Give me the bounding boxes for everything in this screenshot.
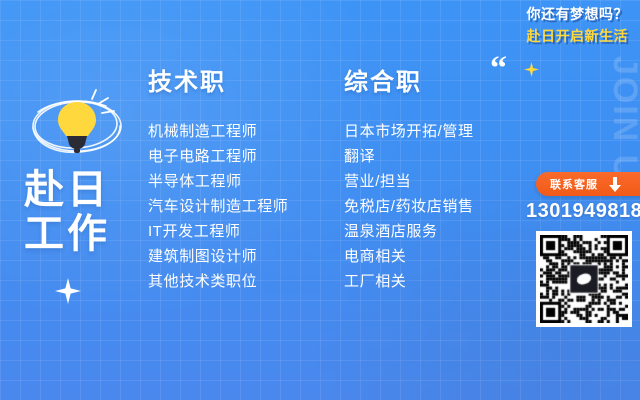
list-item[interactable]: 电子电路工程师 (148, 144, 288, 169)
page-title-line-2: 工作 (24, 212, 110, 256)
contact-support-label: 联系客服 (550, 176, 598, 192)
contact-support-button[interactable]: 联系客服 (536, 172, 640, 196)
list-item[interactable]: 电商相关 (344, 244, 474, 269)
headline-line-2: 赴日开启新生活 (527, 28, 629, 46)
column-general: 综合职 日本市场开拓/管理 翻译 营业/担当 免税店/药妆店销售 温泉酒店服务 … (344, 62, 474, 294)
column-title-general: 综合职 (344, 62, 474, 97)
column-technical: 技术职 机械制造工程师 电子电路工程师 半导体工程师 汽车设计制造工程师 IT开… (148, 62, 288, 294)
qr-code[interactable] (536, 231, 632, 327)
list-item[interactable]: 工厂相关 (344, 269, 474, 294)
quote-mark-icon: “ (490, 52, 507, 86)
list-item[interactable]: IT开发工程师 (148, 219, 288, 244)
list-item[interactable]: 其他技术类职位 (148, 269, 288, 294)
list-item[interactable]: 建筑制图设计师 (148, 244, 288, 269)
sparkle-star-icon (524, 62, 539, 77)
headline-line-1: 你还有梦想吗？ (527, 6, 629, 24)
job-list-general: 日本市场开拓/管理 翻译 营业/担当 免税店/药妆店销售 温泉酒店服务 电商相关… (344, 119, 474, 294)
list-item[interactable]: 半导体工程师 (148, 169, 288, 194)
poster-canvas: JOIN U 你还有梦想吗？ 赴日开启新生活 “ 赴日 (0, 0, 640, 400)
list-item[interactable]: 温泉酒店服务 (344, 219, 474, 244)
column-title-technical: 技术职 (148, 62, 288, 97)
lightbulb-icon (24, 86, 130, 164)
page-title: 赴日 工作 (24, 168, 110, 256)
job-list-technical: 机械制造工程师 电子电路工程师 半导体工程师 汽车设计制造工程师 IT开发工程师… (148, 119, 288, 294)
list-item[interactable]: 机械制造工程师 (148, 119, 288, 144)
phone-number[interactable]: 13019498186 (526, 200, 640, 223)
page-title-line-1: 赴日 (24, 168, 110, 212)
list-item[interactable]: 营业/担当 (344, 169, 474, 194)
headline-block: 你还有梦想吗？ 赴日开启新生活 (527, 6, 629, 45)
list-item[interactable]: 汽车设计制造工程师 (148, 194, 288, 219)
list-item[interactable]: 日本市场开拓/管理 (344, 119, 474, 144)
join-us-watermark: JOIN U (605, 56, 640, 181)
list-item[interactable]: 免税店/药妆店销售 (344, 194, 474, 219)
list-item[interactable]: 翻译 (344, 144, 474, 169)
sparkle-star-icon (55, 278, 81, 304)
